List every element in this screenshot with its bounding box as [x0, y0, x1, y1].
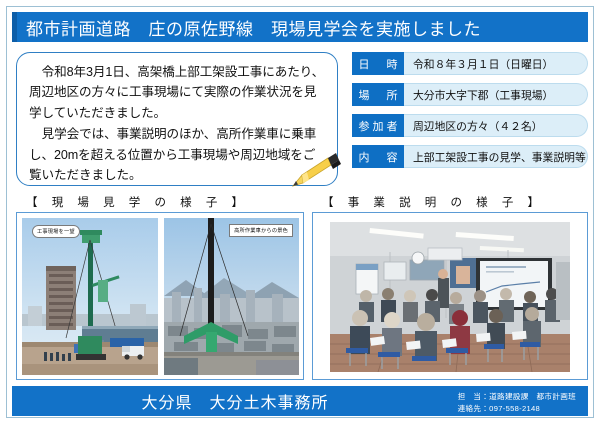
table-row: 内 容 上部工架設工事の見学、事業説明等 [352, 145, 588, 168]
footer-contact-person: 担 当：道路建設課 都市計画班 [458, 391, 576, 403]
photo-briefing-session [330, 222, 570, 372]
section-heading-site-tour: 【 現 場 見 学 の 様 子 】 [26, 194, 249, 210]
summary-callout: 令和8年3月1日、高架橋上部工架設工事にあたり、周辺地区の方々に工事現場にて実際… [16, 52, 338, 186]
title-accent-bar [12, 12, 17, 42]
info-value-content: 上部工架設工事の見学、事業説明等 [404, 145, 588, 168]
photo-caption-aerial: 高所作業車からの景色 [229, 224, 293, 237]
photo-panel-site-tour: 工事現場を一望 [16, 212, 304, 380]
section-heading-briefing: 【 事 業 説 明 の 様 子 】 [322, 194, 545, 210]
info-label-location: 場 所 [352, 83, 404, 106]
summary-paragraph-1: 令和8年3月1日、高架橋上部工架設工事にあたり、周辺地区の方々に工事現場にて実際… [29, 62, 325, 123]
info-label-content: 内 容 [352, 145, 404, 168]
photo-caption-site: 工事現場を一望 [32, 225, 80, 238]
photo-construction-site: 工事現場を一望 [22, 218, 158, 375]
footer-contact: 担 当：道路建設課 都市計画班 連絡先：097-558-2148 [458, 391, 576, 415]
info-value-location: 大分市大字下郡（工事現場） [404, 83, 588, 106]
footer-contact-phone: 連絡先：097-558-2148 [458, 403, 576, 415]
info-label-datetime: 日 時 [352, 52, 404, 75]
page-title-text: 都市計画道路 庄の原佐野線 現場見学会を実施しました [26, 15, 481, 40]
info-label-participants: 参加者 [352, 114, 404, 137]
info-value-participants: 周辺地区の方々（４２名） [404, 114, 588, 137]
pencil-icon [285, 153, 343, 193]
poster-page: 都市計画道路 庄の原佐野線 現場見学会を実施しました 令和8年3月1日、高架橋上… [0, 0, 600, 424]
photo-panel-briefing [312, 212, 588, 380]
summary-paragraph-2: 見学会では、事業説明のほか、高所作業車に乗車し、20mを超える位置から工事現場や… [29, 124, 325, 185]
footer-bar: 大分県 大分土木事務所 担 当：道路建設課 都市計画班 連絡先：097-558-… [12, 386, 588, 416]
table-row: 参加者 周辺地区の方々（４２名） [352, 114, 588, 137]
page-title: 都市計画道路 庄の原佐野線 現場見学会を実施しました [12, 12, 588, 42]
event-info-table: 日 時 令和８年３月１日（日曜日） 場 所 大分市大字下郡（工事現場） 参加者 … [352, 52, 588, 176]
table-row: 場 所 大分市大字下郡（工事現場） [352, 83, 588, 106]
photo-aerial-view: 高所作業車からの景色 [164, 218, 299, 375]
table-row: 日 時 令和８年３月１日（日曜日） [352, 52, 588, 75]
info-value-datetime: 令和８年３月１日（日曜日） [404, 52, 588, 75]
